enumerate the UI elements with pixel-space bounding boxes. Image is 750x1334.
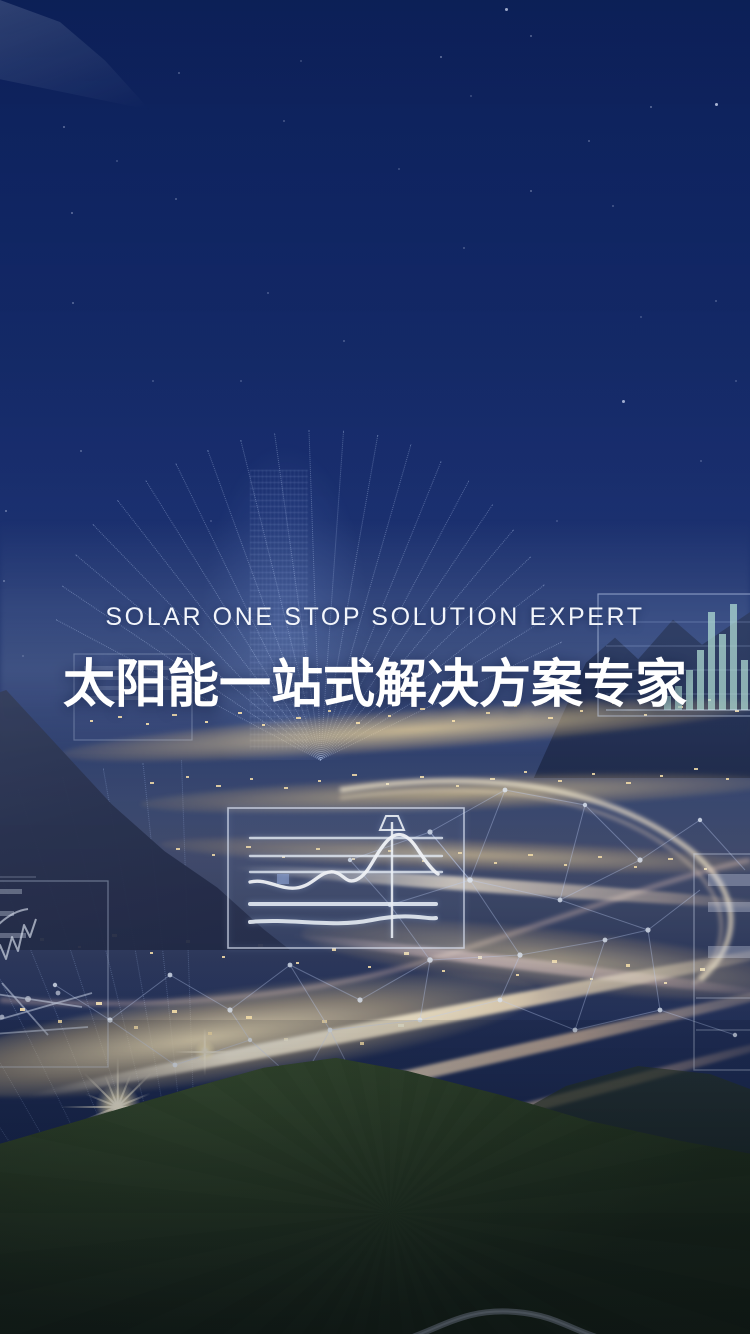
winding-road [280,1268,750,1334]
banner-hero: SOLAR ONE STOP SOLUTION EXPERT 太阳能一站式解决方… [0,0,750,1334]
left-bars-panel [0,855,98,975]
bar-chart-panel [592,588,750,738]
line-chart-panel [222,800,472,960]
right-edge-panel [684,848,750,1078]
upper-left-panel [68,648,218,758]
